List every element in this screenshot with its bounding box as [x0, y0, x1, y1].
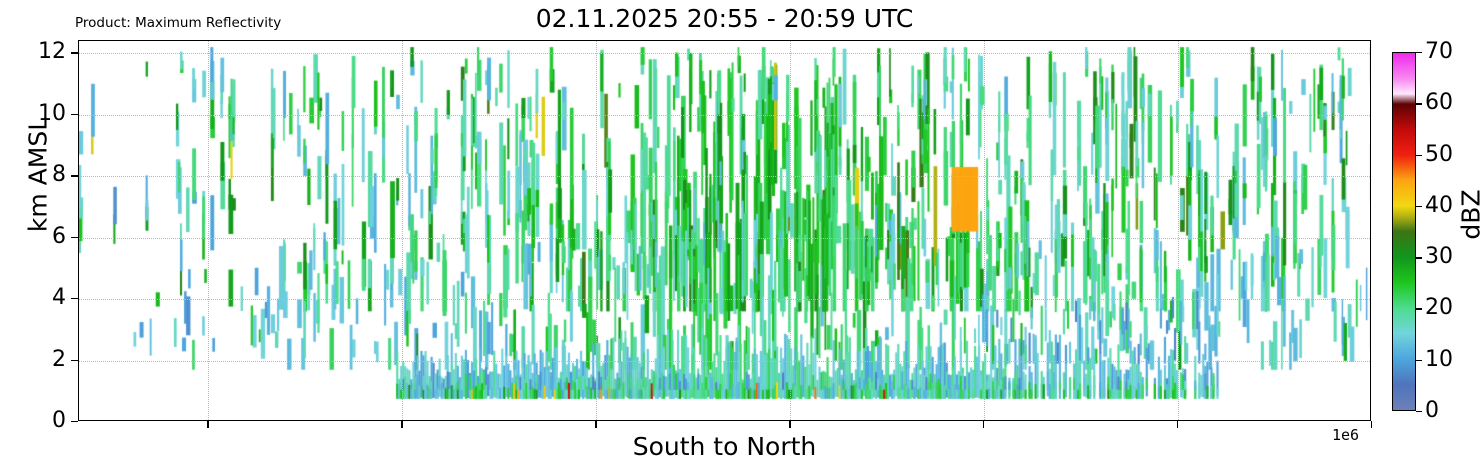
y-tick-mark: [71, 360, 78, 361]
y-tick-mark: [71, 421, 78, 422]
colorbar-tick-label: 50: [1425, 144, 1453, 166]
colorbar-tick-mark: [1416, 155, 1422, 156]
colorbar: [1392, 52, 1416, 411]
colorbar-tick-mark: [1416, 411, 1422, 412]
colorbar-tick-label: 60: [1425, 92, 1453, 114]
colorbar-tick-label: 40: [1425, 195, 1453, 217]
x-tick-mark: [595, 421, 596, 428]
y-tick-label: 0: [52, 410, 66, 432]
x-tick-mark: [983, 421, 984, 428]
x-axis-offset-text: 1e6: [1332, 426, 1359, 444]
colorbar-unit-label: dBZ: [1457, 170, 1482, 260]
y-tick-mark: [71, 237, 78, 238]
x-axis-label: South to North: [78, 432, 1371, 461]
colorbar-tick-label: 0: [1425, 400, 1439, 422]
page-title: 02.11.2025 20:55 - 20:59 UTC: [78, 4, 1371, 34]
y-tick-label: 2: [52, 349, 66, 371]
radar-reflectivity-figure: Product: Maximum Reflectivity 02.11.2025…: [0, 0, 1482, 470]
x-tick-mark: [1371, 421, 1372, 428]
y-tick-mark: [71, 175, 78, 176]
colorbar-tick-label: 10: [1425, 349, 1453, 371]
x-tick-mark: [1177, 421, 1178, 428]
colorbar-tick-mark: [1416, 206, 1422, 207]
reflectivity-curtain-canvas: [79, 41, 1371, 421]
colorbar-tick-mark: [1416, 360, 1422, 361]
colorbar-tick-label: 30: [1425, 246, 1453, 268]
y-tick-mark: [71, 114, 78, 115]
x-tick-mark: [401, 421, 402, 428]
colorbar-tick-label: 20: [1425, 297, 1453, 319]
y-tick-label: 12: [38, 41, 66, 63]
colorbar-tick-mark: [1416, 103, 1422, 104]
y-tick-label: 8: [52, 164, 66, 186]
y-tick-mark: [71, 298, 78, 299]
colorbar-tick-label: 70: [1425, 41, 1453, 63]
colorbar-tick-mark: [1416, 52, 1422, 53]
x-tick-mark: [207, 421, 208, 428]
y-tick-label: 10: [38, 103, 66, 125]
x-tick-mark: [789, 421, 790, 428]
colorbar-gradient: [1392, 52, 1416, 411]
colorbar-tick-mark: [1416, 308, 1422, 309]
y-tick-label: 4: [52, 287, 66, 309]
y-tick-mark: [71, 52, 78, 53]
y-tick-label: 6: [52, 226, 66, 248]
plot-area: [78, 40, 1371, 421]
colorbar-tick-mark: [1416, 257, 1422, 258]
